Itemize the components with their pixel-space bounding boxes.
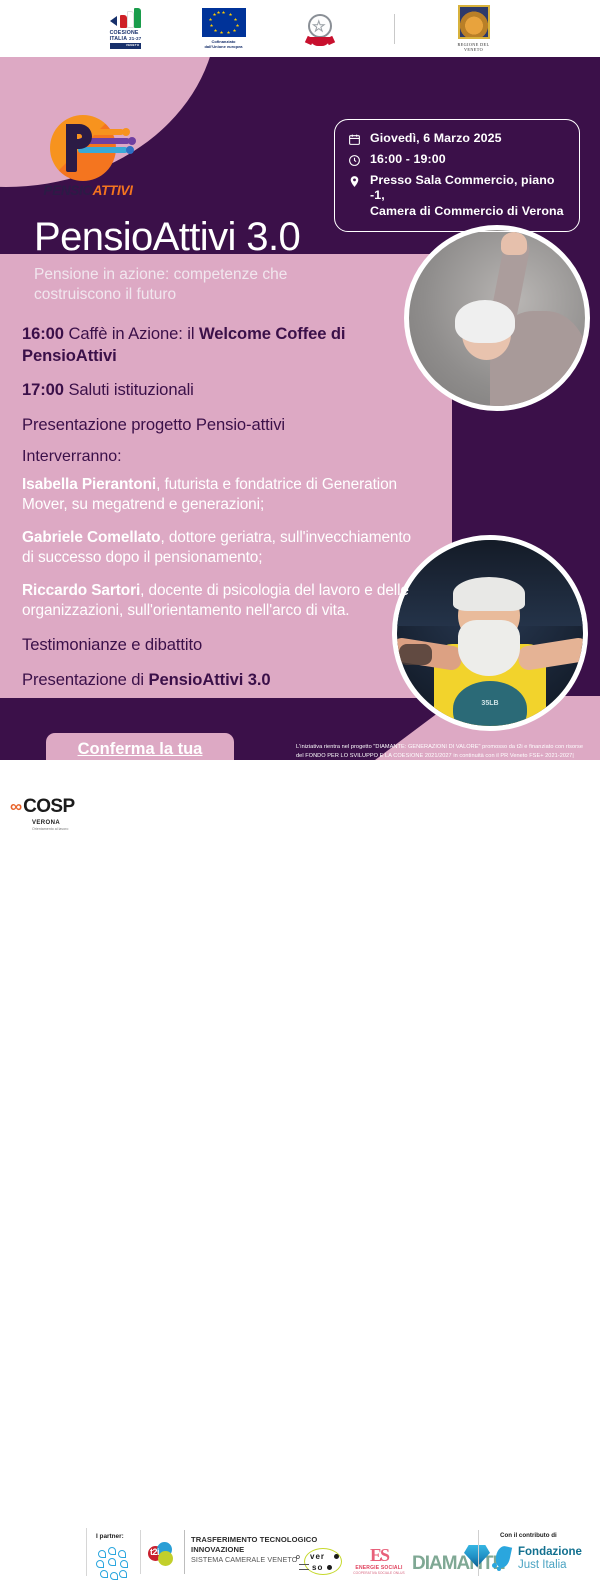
program-item-2: 17:00 Saluti istituzionali: [22, 379, 414, 401]
coesione-text: COESIONE ITALIA 21-27 VENETO: [108, 30, 142, 49]
event-time: 16:00 - 19:00: [370, 152, 446, 167]
cta-line1: Conferma la tua: [78, 740, 203, 758]
partner-divider-3: [184, 1530, 185, 1574]
regione-veneto-logo: REGIONE DEL VENETO: [449, 5, 499, 52]
pensioattivi-wordmark: PENSIOATTIVI: [36, 183, 140, 198]
contribution-label: Con il contributo di: [500, 1532, 557, 1539]
photo-senior-man-kettlebell: 35LB: [392, 535, 588, 731]
coesione-flag-mark: [108, 8, 142, 28]
cosp-city: VERONA: [32, 820, 60, 826]
diamante-wordmark: DIAMANTE: [412, 1553, 504, 1575]
coesione-bluebar: VENETO: [110, 43, 142, 49]
cosp-infinity-icon: ∞: [10, 797, 20, 817]
wordmark-part-1: PENSIO: [43, 183, 92, 198]
logo-divider: [394, 14, 395, 44]
veneto-lion-icon: [458, 5, 490, 39]
tt-line1: TRASFERIMENTO TECNOLOGICO: [191, 1535, 317, 1545]
partners-label: I partner:: [96, 1533, 124, 1540]
verso-so: so: [312, 1563, 323, 1572]
verso-logo: o ver so: [296, 1548, 344, 1578]
energie-sociali-logo: ES ENERGIE SOCIALI COOPERATIVA SOCIALE O…: [352, 1546, 406, 1575]
legal-disclaimer: L'iniziativa rientra nel progetto "DIAMA…: [296, 743, 584, 760]
sistema-camerale-nodes-icon: [98, 1550, 132, 1580]
coesione-bar-note: VENETO: [126, 44, 139, 48]
t2i-label: t2i: [150, 1547, 159, 1557]
cosp-tagline: Orientamento al lavoro: [32, 827, 68, 831]
photo-senior-woman-stretching: [404, 225, 590, 411]
event-location-row: Presso Sala Commercio, piano -1, Camera …: [347, 173, 567, 218]
location-pin-icon: [347, 173, 362, 188]
program-item-1: 16:00 Caffè in Azione: il Welcome Coffee…: [22, 323, 414, 366]
speaker-2-name: Gabriele Comellato: [22, 529, 160, 546]
program-item-3: Presentazione progetto Pensio-attivi: [22, 414, 414, 436]
partners-footer-bar: ∞ COSP VERONA Orientamento al lavoro I p…: [0, 760, 600, 849]
veneto-caption: REGIONE DEL VENETO: [449, 42, 499, 52]
speaker-1-name: Isabella Pierantoni: [22, 476, 156, 493]
republic-emblem-icon: ★: [305, 12, 335, 46]
program-agenda: 16:00 Caffè in Azione: il Welcome Coffee…: [22, 323, 414, 703]
coesione-line2: ITALIA: [110, 36, 128, 42]
institutional-logo-bar: COESIONE ITALIA 21-27 VENETO ★ ★ ★ ★ ★ ★…: [0, 0, 600, 57]
eu-caption: Cofinanziato dall'Unione europea: [204, 39, 242, 49]
pensioattivi-logo: PENSIOATTIVI: [36, 115, 140, 201]
es-subtitle: COOPERATIVA SOCIALE ONLUS: [352, 1571, 406, 1575]
coesione-years: 21-27: [129, 36, 141, 41]
verso-o: o: [296, 1554, 300, 1561]
poster-canvas: 35LB PENSIOATTIVI Giovedì, 6 Marzo 2025: [0, 57, 600, 760]
calendar-icon: [347, 131, 362, 146]
coesione-italia-logo: COESIONE ITALIA 21-27 VENETO: [102, 8, 148, 49]
event-info-card: Giovedì, 6 Marzo 2025 16:00 - 19:00 Pres…: [334, 119, 580, 232]
event-location-line1: Presso Sala Commercio, piano -1,: [370, 173, 555, 202]
italian-republic-emblem: ★: [300, 12, 340, 46]
partner-divider-4: [478, 1530, 479, 1576]
event-date: Giovedì, 6 Marzo 2025: [370, 131, 502, 146]
page-title: PensioAttivi 3.0: [34, 217, 364, 257]
fondazione-line2: Just Italia: [518, 1559, 582, 1572]
event-location-line2: Camera di Commercio di Verona: [370, 204, 564, 218]
speakers-label: Interverranno:: [22, 448, 414, 466]
program-item-4: Testimonianze e dibattito: [22, 634, 414, 656]
program-item-5-bold: PensioAttivi 3.0: [149, 670, 271, 689]
wordmark-part-2: ATTIVI: [93, 183, 133, 198]
speaker-3-name: Riccardo Sartori: [22, 582, 140, 599]
clock-icon: [347, 152, 362, 167]
event-location: Presso Sala Commercio, piano -1, Camera …: [370, 173, 567, 218]
es-glyph: ES: [352, 1546, 406, 1564]
t2i-logo: t2i: [148, 1542, 178, 1566]
program-item-1-time: 16:00: [22, 324, 64, 343]
event-date-row: Giovedì, 6 Marzo 2025: [347, 131, 567, 146]
cta-label: Conferma la tua presenza qui: [78, 740, 203, 760]
confirm-attendance-button[interactable]: Conferma la tua presenza qui: [46, 733, 234, 760]
fondazione-just-italia-logo: Fondazione Just Italia: [492, 1546, 582, 1572]
speaker-3: Riccardo Sartori, docente di psicologia …: [22, 581, 414, 621]
speaker-1: Isabella Pierantoni, futurista e fondatr…: [22, 475, 414, 515]
cosp-verona-logo: ∞ COSP VERONA Orientamento al lavoro: [10, 796, 75, 831]
eu-caption-line2: dall'Unione europea: [204, 44, 242, 49]
fondazione-line1: Fondazione: [518, 1546, 582, 1559]
hero-title-block: PensioAttivi 3.0 Pensione in azione: com…: [34, 217, 364, 305]
eu-flag-icon: ★ ★ ★ ★ ★ ★ ★ ★ ★ ★ ★ ★: [202, 8, 246, 37]
program-item-5: Presentazione di PensioAttivi 3.0: [22, 669, 414, 691]
water-drop-icon: [492, 1546, 512, 1572]
partner-divider-2: [140, 1530, 141, 1574]
program-item-1-text: Caffè in Azione: il: [64, 324, 199, 343]
program-item-5-text: Presentazione di: [22, 670, 149, 689]
hero-subtitle: Pensione in azione: competenze che costr…: [34, 265, 364, 305]
program-item-2-text: Saluti istituzionali: [64, 380, 194, 399]
kettlebell-weight-label: 35LB: [453, 700, 527, 707]
partner-divider-1: [86, 1528, 87, 1576]
speaker-2: Gabriele Comellato, dottore geriatra, su…: [22, 528, 414, 568]
cosp-name: COSP: [23, 796, 74, 818]
eu-cofinance-logo: ★ ★ ★ ★ ★ ★ ★ ★ ★ ★ ★ ★ Cofinanziato dal…: [202, 8, 246, 49]
program-item-2-time: 17:00: [22, 380, 64, 399]
verso-ver: ver: [310, 1552, 325, 1561]
event-time-row: 16:00 - 19:00: [347, 152, 567, 167]
